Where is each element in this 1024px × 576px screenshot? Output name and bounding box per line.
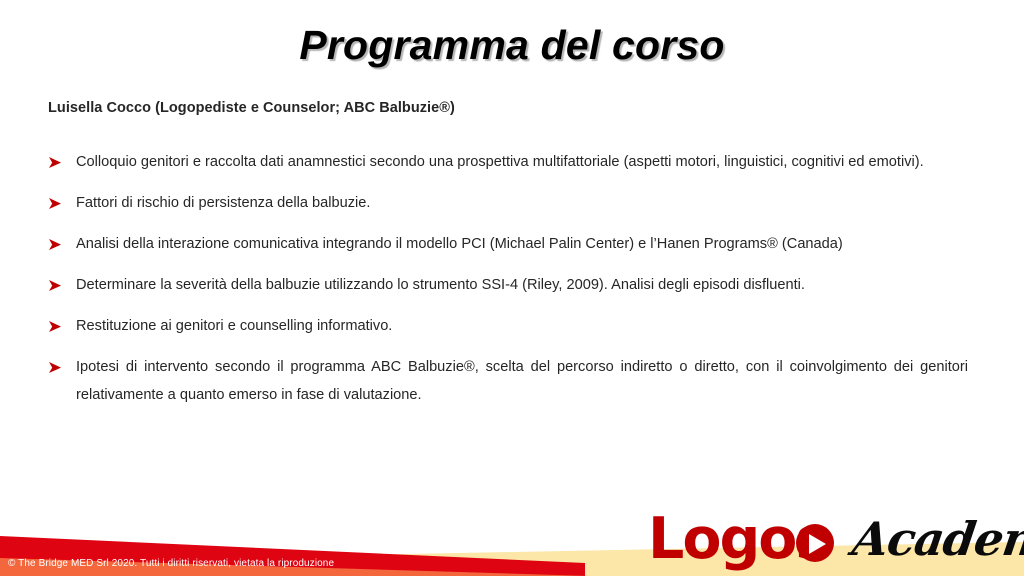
list-item: Restituzione ai genitori e counselling i… bbox=[46, 312, 968, 340]
list-item-label: Restituzione ai genitori e counselling i… bbox=[76, 312, 968, 340]
arrowhead-bullet-icon bbox=[47, 317, 63, 333]
logo-script-wordmark: Academy bbox=[849, 512, 1024, 566]
arrowhead-bullet-icon bbox=[47, 276, 63, 292]
list-item: Analisi della interazione comunicativa i… bbox=[46, 230, 968, 258]
list-item: Colloquio genitori e raccolta dati anamn… bbox=[46, 148, 968, 176]
slide-canvas: Programma del corso Luisella Cocco (Logo… bbox=[0, 0, 1024, 576]
arrowhead-bullet-icon bbox=[47, 358, 63, 374]
list-item: Fattori di rischio di persistenza della … bbox=[46, 189, 968, 217]
copyright-text: © The Bridge MED Srl 2020. Tutti i dirit… bbox=[8, 558, 334, 569]
list-item-label: Ipotesi di intervento secondo il program… bbox=[76, 353, 968, 409]
list-item: Determinare la severità della balbuzie u… bbox=[46, 271, 968, 299]
list-item: Ipotesi di intervento secondo il program… bbox=[46, 353, 968, 409]
arrowhead-bullet-icon bbox=[47, 194, 63, 210]
list-item-label: Analisi della interazione comunicativa i… bbox=[76, 230, 968, 258]
author-line: Luisella Cocco (Logopediste e Counselor;… bbox=[48, 100, 455, 116]
list-item-label: Colloquio genitori e raccolta dati anamn… bbox=[76, 148, 968, 176]
list-item-label: Determinare la severità della balbuzie u… bbox=[76, 271, 968, 299]
bullet-list: Colloquio genitori e raccolta dati anamn… bbox=[46, 148, 968, 422]
logos-academy-logo: Logos Academy bbox=[648, 500, 1016, 572]
arrowhead-bullet-icon bbox=[47, 153, 63, 169]
list-item-label: Fattori di rischio di persistenza della … bbox=[76, 189, 968, 217]
arrowhead-bullet-icon bbox=[47, 235, 63, 251]
play-triangle-icon bbox=[809, 534, 826, 554]
page-title: Programma del corso bbox=[0, 22, 1024, 69]
